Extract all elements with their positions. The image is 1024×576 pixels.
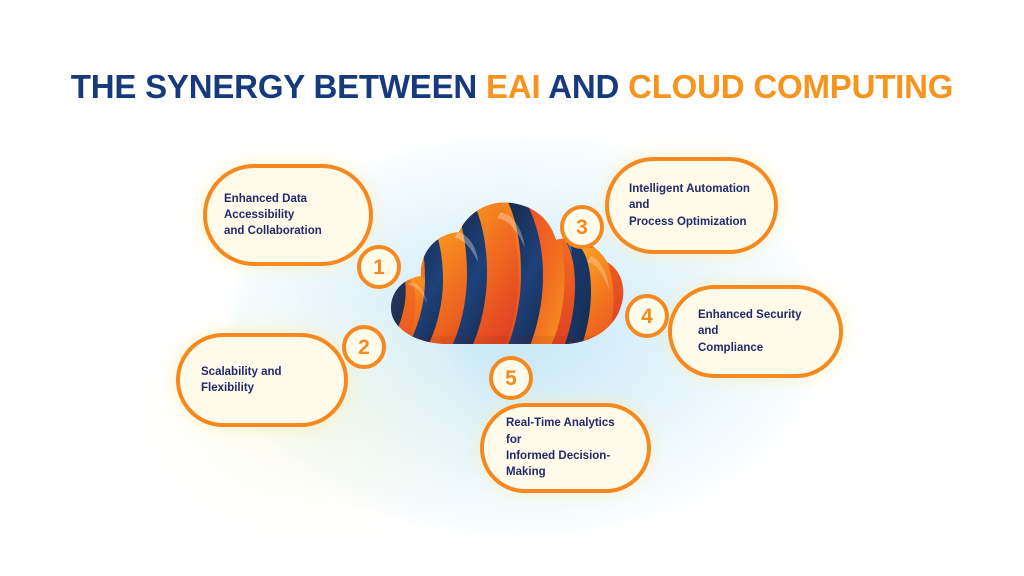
benefit-card-enhanced-security[interactable]: Enhanced Security and Compliance bbox=[668, 285, 843, 378]
step-badge-4[interactable]: 4 bbox=[625, 294, 669, 338]
page-title-part-1: THE SYNERGY BETWEEN bbox=[71, 68, 486, 105]
page-title-part-and: AND bbox=[540, 68, 628, 105]
page-title-part-eai: EAI bbox=[486, 68, 540, 105]
benefit-card-enhanced-data-accessibility[interactable]: Enhanced Data Accessibility and Collabor… bbox=[203, 164, 373, 266]
benefit-card-label: Enhanced Security and Compliance bbox=[672, 307, 839, 356]
step-badge-5[interactable]: 5 bbox=[489, 356, 533, 400]
benefit-card-label: Scalability and Flexibility bbox=[180, 364, 344, 397]
step-badge-2[interactable]: 2 bbox=[342, 325, 386, 369]
benefit-card-label: Intelligent Automation and Process Optim… bbox=[609, 181, 774, 230]
page-title-part-cloud-computing: CLOUD COMPUTING bbox=[628, 68, 953, 105]
page-title: THE SYNERGY BETWEEN EAI AND CLOUD COMPUT… bbox=[0, 70, 1024, 103]
step-badge-1[interactable]: 1 bbox=[357, 245, 401, 289]
step-badge-3[interactable]: 3 bbox=[560, 205, 604, 249]
benefit-card-real-time-analytics[interactable]: Real-Time Analytics for Informed Decisio… bbox=[480, 403, 651, 493]
benefit-card-scalability-and-flexibility[interactable]: Scalability and Flexibility bbox=[176, 333, 348, 427]
benefit-card-label: Enhanced Data Accessibility and Collabor… bbox=[207, 191, 369, 240]
benefit-card-label: Real-Time Analytics for Informed Decisio… bbox=[484, 415, 647, 480]
infographic-canvas: THE SYNERGY BETWEEN EAI AND CLOUD COMPUT… bbox=[0, 0, 1024, 576]
